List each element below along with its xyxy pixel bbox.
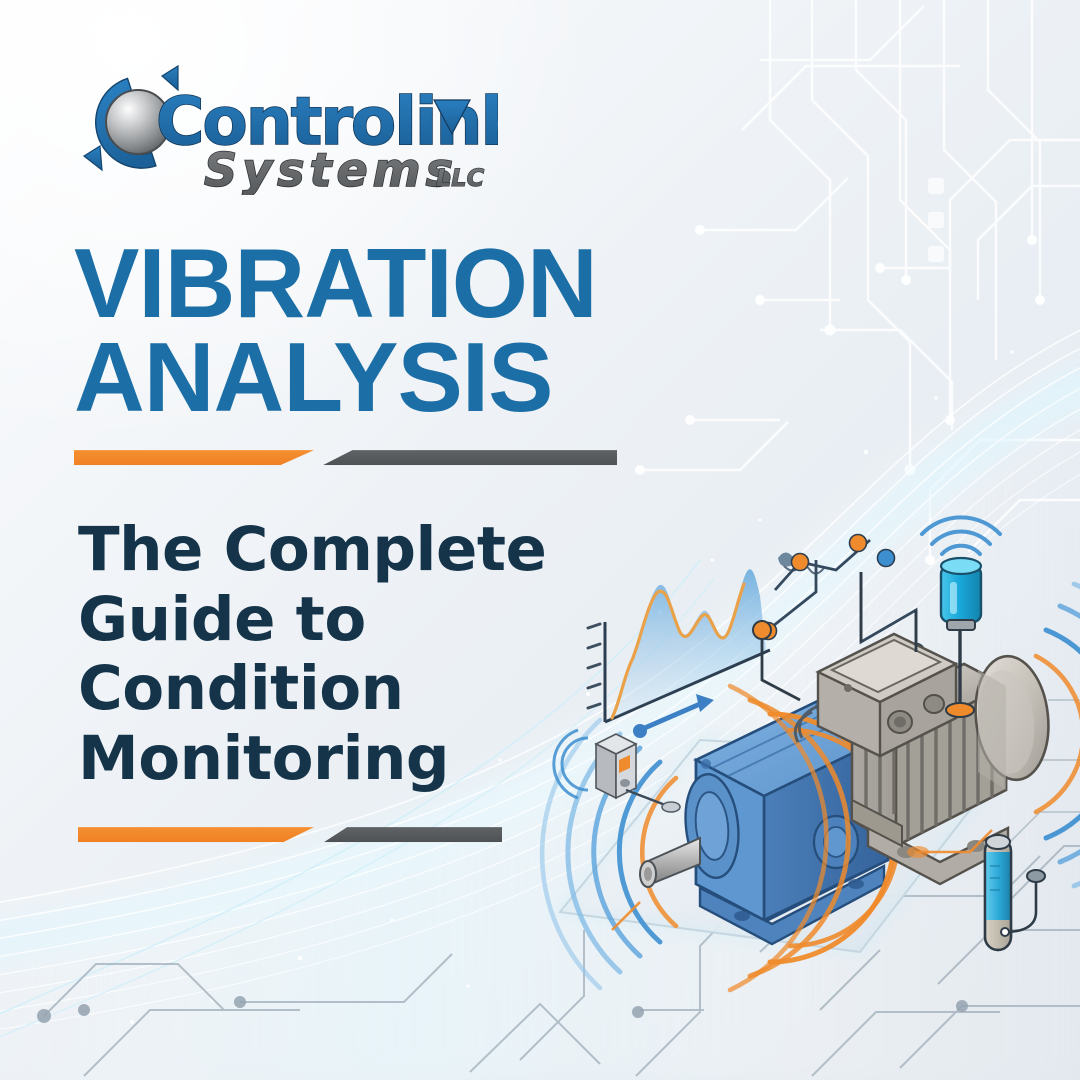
page-title-line-1: VIBRATION <box>74 236 734 330</box>
chart-node-orange <box>792 554 809 571</box>
subtitle-line-3: Condition <box>78 654 658 724</box>
poster-canvas: Controlink Systems LLC <box>0 0 1080 1080</box>
subheadline-block: The Complete Guide to Condition Monitori… <box>78 515 658 849</box>
divider-bar-orange <box>78 827 314 842</box>
subtitle-line-2: Guide to <box>78 585 658 655</box>
contact-sensor-probe <box>985 835 1045 950</box>
divider-top <box>74 450 734 472</box>
divider-bar-gray <box>323 450 617 465</box>
wireless-signal-icon <box>922 517 1000 554</box>
subtitle-line-1: The Complete <box>78 515 658 585</box>
sensor-mount-dot <box>946 703 974 717</box>
chart-node-blue <box>878 550 895 567</box>
subtitle-line-4: Monitoring <box>78 724 658 794</box>
divider-bottom <box>78 827 658 849</box>
fan-cowl <box>970 653 1055 790</box>
divider-bar-orange <box>74 450 314 465</box>
divider-bar-gray <box>324 827 502 842</box>
page-title-line-2: ANALYSIS <box>74 330 734 424</box>
headline-block: VIBRATION ANALYSIS <box>74 236 734 472</box>
